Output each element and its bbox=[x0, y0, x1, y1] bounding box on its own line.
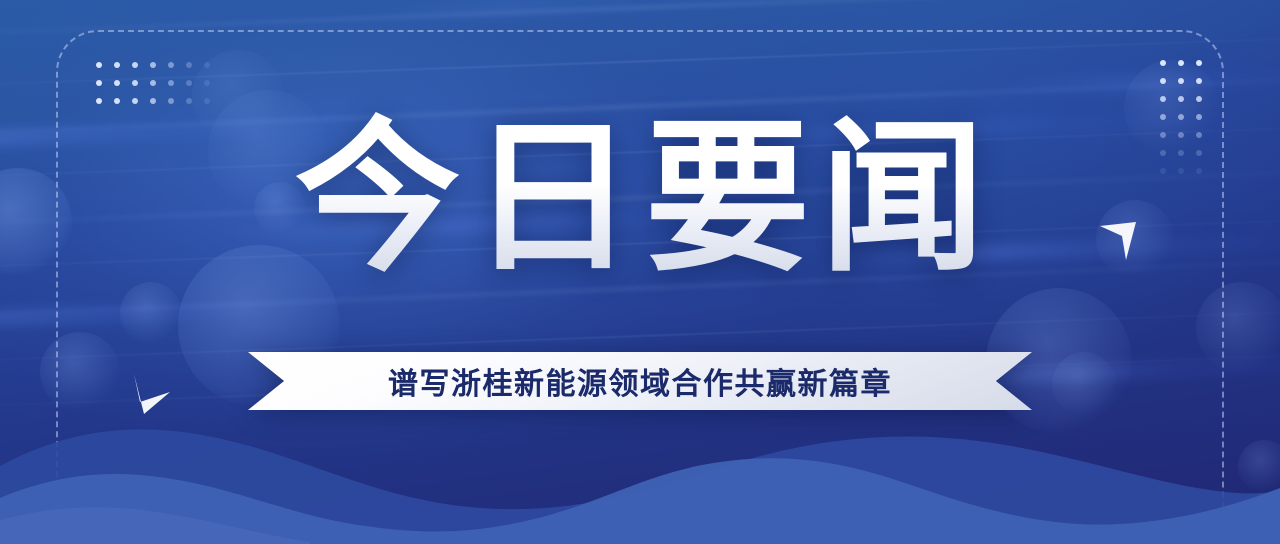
wave-band bbox=[0, 394, 1280, 544]
news-banner: 今日要闻 谱写浙桂新能源领域合作共赢新篇章 bbox=[0, 0, 1280, 544]
light-streak-glow bbox=[912, 69, 1280, 96]
bokeh-orb bbox=[120, 282, 182, 344]
bokeh-orb bbox=[1196, 282, 1280, 374]
subtitle-ribbon: 谱写浙桂新能源领域合作共赢新篇章 bbox=[248, 352, 1032, 410]
dot-grid-left bbox=[96, 62, 210, 104]
light-streak bbox=[0, 32, 1280, 90]
subtitle-text: 谱写浙桂新能源领域合作共赢新篇章 bbox=[248, 352, 1032, 410]
page-title: 今日要闻 bbox=[0, 112, 1280, 284]
light-streak bbox=[0, 0, 1280, 40]
light-streak-glow bbox=[259, 0, 803, 22]
light-streak-glow bbox=[0, 299, 368, 334]
